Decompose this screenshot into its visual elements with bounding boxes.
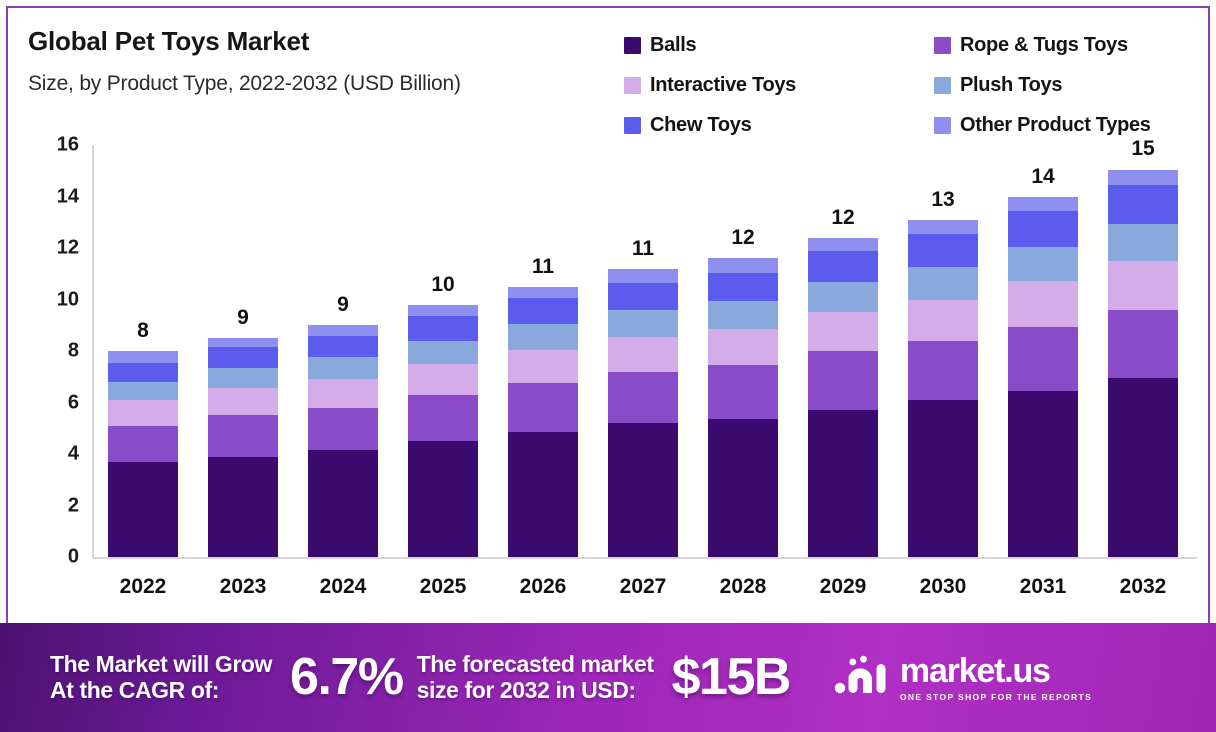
bar-segment[interactable] — [808, 282, 878, 313]
bar-column[interactable]: 82022 — [108, 145, 178, 557]
cagr-label-line1: The Market will Grow — [50, 652, 272, 678]
bar-segment[interactable] — [208, 338, 278, 347]
bar-segment[interactable] — [308, 408, 378, 450]
legend-item-label: Other Product Types — [960, 114, 1151, 137]
bar-segment[interactable] — [208, 388, 278, 415]
y-axis-tick-label: 10 — [57, 288, 79, 311]
bar-segment[interactable] — [108, 382, 178, 400]
bar-column[interactable]: 112026 — [508, 145, 578, 557]
bar-segment[interactable] — [708, 419, 778, 557]
legend-swatch-icon — [624, 37, 641, 54]
bar-segment[interactable] — [608, 423, 678, 557]
stacked-bar[interactable] — [608, 269, 678, 557]
bar-value-label: 13 — [908, 188, 978, 212]
forecast-size-label-line2: size for 2032 in USD: — [417, 678, 654, 704]
bar-segment[interactable] — [208, 457, 278, 557]
y-axis-tick-label: 14 — [57, 185, 79, 208]
bar-segment[interactable] — [308, 336, 378, 358]
stacked-bar[interactable] — [1008, 197, 1078, 558]
y-axis-tick-label: 2 — [68, 494, 79, 517]
legend-item[interactable]: Plush Toys — [934, 74, 1204, 97]
bar-column[interactable]: 132030 — [908, 145, 978, 557]
bar-segment[interactable] — [508, 350, 578, 383]
bar-segment[interactable] — [1108, 261, 1178, 310]
bar-segment[interactable] — [1008, 327, 1078, 391]
y-axis-tick-label: 16 — [57, 134, 79, 157]
legend-item-label: Interactive Toys — [650, 74, 796, 97]
stacked-bar[interactable] — [108, 351, 178, 557]
bar-segment[interactable] — [308, 450, 378, 557]
stacked-bar[interactable] — [1108, 169, 1178, 557]
plot-area: 1614121086420 82022920239202410202511202… — [93, 145, 1193, 557]
bar-segment[interactable] — [1008, 211, 1078, 247]
bar-segment[interactable] — [508, 298, 578, 324]
page-title: Global Pet Toys Market — [28, 26, 309, 57]
y-axis-tick-label: 4 — [68, 443, 79, 466]
bar-segment[interactable] — [108, 351, 178, 363]
bar-segment[interactable] — [808, 238, 878, 251]
bar-segment[interactable] — [108, 400, 178, 426]
bar-segment[interactable] — [508, 324, 578, 350]
bar-segment[interactable] — [608, 283, 678, 310]
bar-segment[interactable] — [508, 287, 578, 299]
bar-segment[interactable] — [708, 273, 778, 301]
legend-item-label: Balls — [650, 34, 696, 57]
bar-segment[interactable] — [608, 337, 678, 372]
bar-value-label: 11 — [608, 237, 678, 261]
bar-column[interactable]: 112027 — [608, 145, 678, 557]
market-us-logo[interactable]: market.us ONE STOP SHOP FOR THE REPORTS — [834, 654, 1092, 702]
chart-legend: BallsRope & Tugs ToysInteractive ToysPlu… — [624, 25, 1204, 145]
cagr-value: 6.7% — [290, 648, 403, 706]
cagr-label-line2: At the CAGR of: — [50, 678, 272, 704]
bar-segment[interactable] — [1108, 170, 1178, 185]
x-axis-line — [93, 557, 1197, 559]
bar-segment[interactable] — [708, 301, 778, 329]
bar-value-label: 8 — [108, 319, 178, 343]
bar-segment[interactable] — [808, 410, 878, 557]
bar-segment[interactable] — [408, 395, 478, 441]
market-us-logo-text: market.us ONE STOP SHOP FOR THE REPORTS — [900, 654, 1092, 702]
legend-item[interactable]: Chew Toys — [624, 114, 934, 137]
legend-item-label: Plush Toys — [960, 74, 1062, 97]
x-axis-tick-label: 2022 — [102, 575, 184, 599]
x-axis-tick-label: 2024 — [302, 575, 384, 599]
bar-column[interactable]: 142031 — [1008, 145, 1078, 557]
bar-segment[interactable] — [308, 325, 378, 335]
x-axis-tick-label: 2031 — [1002, 575, 1084, 599]
bar-segment[interactable] — [1008, 247, 1078, 282]
bar-column[interactable]: 122028 — [708, 145, 778, 557]
bar-column[interactable]: 92024 — [308, 145, 378, 557]
legend-item[interactable]: Rope & Tugs Toys — [934, 34, 1204, 57]
page-subtitle: Size, by Product Type, 2022-2032 (USD Bi… — [28, 72, 461, 96]
bar-value-label: 9 — [308, 293, 378, 317]
y-axis-tick-label: 12 — [57, 237, 79, 260]
bar-segment[interactable] — [908, 400, 978, 557]
bar-segment[interactable] — [408, 341, 478, 364]
legend-swatch-icon — [934, 37, 951, 54]
legend-item[interactable]: Interactive Toys — [624, 74, 934, 97]
bar-segment[interactable] — [408, 305, 478, 317]
forecast-size-value: $15B — [672, 648, 790, 706]
bar-segment[interactable] — [708, 329, 778, 365]
forecast-size-label: The forecasted market size for 2032 in U… — [417, 652, 654, 704]
stacked-bar[interactable] — [308, 325, 378, 557]
bar-segment[interactable] — [1108, 224, 1178, 261]
x-axis-tick-label: 2028 — [702, 575, 784, 599]
bar-segment[interactable] — [1008, 197, 1078, 211]
bar-segment[interactable] — [508, 383, 578, 432]
logo-tagline: ONE STOP SHOP FOR THE REPORTS — [900, 692, 1092, 702]
bar-segment[interactable] — [608, 372, 678, 424]
bar-series-group: 8202292023920241020251120261120271220281… — [93, 145, 1193, 557]
bar-segment[interactable] — [608, 269, 678, 283]
legend-swatch-icon — [624, 77, 641, 94]
bar-segment[interactable] — [108, 363, 178, 382]
stacked-bar[interactable] — [408, 305, 478, 557]
bar-segment[interactable] — [908, 341, 978, 400]
bar-segment[interactable] — [808, 251, 878, 282]
y-axis-tick-label: 6 — [68, 391, 79, 414]
bar-value-label: 14 — [1008, 165, 1078, 189]
x-axis-tick-label: 2030 — [902, 575, 984, 599]
bar-value-label: 15 — [1108, 137, 1178, 161]
bar-value-label: 11 — [508, 255, 578, 279]
x-axis-tick-label: 2029 — [802, 575, 884, 599]
bar-segment[interactable] — [708, 365, 778, 419]
legend-item-label: Chew Toys — [650, 114, 751, 137]
legend-swatch-icon — [934, 77, 951, 94]
bar-segment[interactable] — [308, 379, 378, 407]
forecast-size-label-line1: The forecasted market — [417, 652, 654, 678]
stacked-bar[interactable] — [208, 338, 278, 557]
bar-value-label: 10 — [408, 273, 478, 297]
bar-column[interactable]: 92023 — [208, 145, 278, 557]
bar-segment[interactable] — [208, 415, 278, 456]
bar-segment[interactable] — [908, 267, 978, 299]
bar-column[interactable]: 152032 — [1108, 145, 1178, 557]
stacked-bar[interactable] — [808, 238, 878, 557]
x-axis-tick-label: 2027 — [602, 575, 684, 599]
bar-segment[interactable] — [608, 310, 678, 337]
bar-value-label: 12 — [708, 226, 778, 250]
bar-segment[interactable] — [408, 441, 478, 557]
logo-wordmark: market.us — [900, 654, 1092, 688]
cagr-label: The Market will Grow At the CAGR of: — [50, 652, 272, 704]
y-axis-tick-label: 8 — [68, 340, 79, 363]
footer-banner: The Market will Grow At the CAGR of: 6.7… — [0, 623, 1216, 732]
y-axis-tick-label: 0 — [68, 546, 79, 569]
bar-segment[interactable] — [208, 347, 278, 368]
x-axis-tick-label: 2025 — [402, 575, 484, 599]
bar-segment[interactable] — [1108, 378, 1178, 557]
stacked-bar[interactable] — [508, 287, 578, 557]
infographic-root: Global Pet Toys Market Size, by Product … — [0, 0, 1216, 732]
bar-column[interactable]: 102025 — [408, 145, 478, 557]
bar-value-label: 9 — [208, 306, 278, 330]
bar-segment[interactable] — [108, 462, 178, 557]
bar-segment[interactable] — [108, 426, 178, 462]
legend-item-label: Rope & Tugs Toys — [960, 34, 1128, 57]
legend-item[interactable]: Balls — [624, 34, 934, 57]
x-axis-tick-label: 2032 — [1102, 575, 1184, 599]
bar-segment[interactable] — [908, 234, 978, 267]
bar-segment[interactable] — [1108, 310, 1178, 378]
bar-segment[interactable] — [1008, 281, 1078, 326]
bar-segment[interactable] — [408, 364, 478, 395]
bar-segment[interactable] — [508, 432, 578, 557]
bar-segment[interactable] — [808, 351, 878, 410]
legend-item[interactable]: Other Product Types — [934, 114, 1204, 137]
stacked-bar[interactable] — [708, 258, 778, 557]
x-axis-tick-label: 2026 — [502, 575, 584, 599]
bar-column[interactable]: 122029 — [808, 145, 878, 557]
x-axis-tick-label: 2023 — [202, 575, 284, 599]
bar-segment[interactable] — [908, 300, 978, 341]
market-us-logo-mark-icon — [834, 654, 890, 701]
legend-swatch-icon — [934, 117, 951, 134]
legend-swatch-icon — [624, 117, 641, 134]
bar-segment[interactable] — [1108, 185, 1178, 224]
bar-segment[interactable] — [1008, 391, 1078, 557]
bar-segment[interactable] — [208, 368, 278, 389]
bar-segment[interactable] — [908, 220, 978, 234]
bar-segment[interactable] — [408, 316, 478, 340]
bar-segment[interactable] — [708, 258, 778, 272]
bar-value-label: 12 — [808, 206, 878, 230]
bar-segment[interactable] — [308, 357, 378, 379]
stacked-bar[interactable] — [908, 220, 978, 557]
bar-segment[interactable] — [808, 312, 878, 351]
